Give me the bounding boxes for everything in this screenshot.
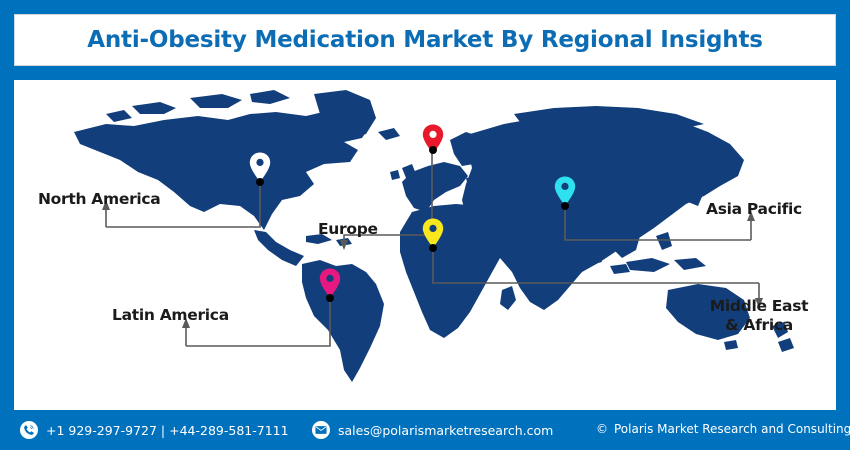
- page-title: Anti-Obesity Medication Market By Region…: [87, 27, 762, 53]
- pin-anchor-latin-america: [326, 294, 334, 302]
- copyright-icon: ©: [596, 422, 608, 436]
- footer-phone-text: +1 929-297-9727 | +44-289-581-7111: [46, 423, 289, 438]
- infographic-root: Anti-Obesity Medication Market By Region…: [0, 0, 850, 450]
- region-label-middle-east-africa-line2: & Africa: [699, 316, 819, 335]
- header-band: Anti-Obesity Medication Market By Region…: [0, 0, 850, 80]
- pin-anchor-middle-east-africa: [429, 244, 437, 252]
- world-map-panel: North America Europe Asia Pacific Latin …: [14, 80, 836, 410]
- footer-phone[interactable]: +1 929-297-9727 | +44-289-581-7111: [20, 421, 289, 439]
- region-label-middle-east-africa-line1: Middle East: [699, 297, 819, 316]
- region-label-asia-pacific: Asia Pacific: [706, 200, 802, 219]
- region-label-europe: Europe: [318, 220, 378, 239]
- region-label-middle-east-africa: Middle East & Africa: [699, 297, 819, 335]
- connector-middle-east-africa: [433, 248, 759, 283]
- arrow-europe: [340, 240, 348, 250]
- footer-email[interactable]: sales@polarismarketresearch.com: [312, 421, 553, 439]
- region-label-latin-america: Latin America: [112, 306, 229, 325]
- pin-anchor-europe: [429, 146, 437, 154]
- pin-anchor-asia-pacific: [561, 202, 569, 210]
- phone-icon: [20, 421, 38, 439]
- footer-copyright-text: Polaris Market Research and Consulting L…: [614, 422, 850, 436]
- footer-band: +1 929-297-9727 | +44-289-581-7111 sales…: [0, 410, 850, 450]
- region-label-north-america: North America: [38, 190, 160, 209]
- pin-anchor-north-america: [256, 178, 264, 186]
- title-box: Anti-Obesity Medication Market By Region…: [14, 14, 836, 66]
- footer-copyright: © Polaris Market Research and Consulting…: [596, 422, 850, 436]
- envelope-icon: [312, 421, 330, 439]
- footer-email-text: sales@polarismarketresearch.com: [338, 423, 553, 438]
